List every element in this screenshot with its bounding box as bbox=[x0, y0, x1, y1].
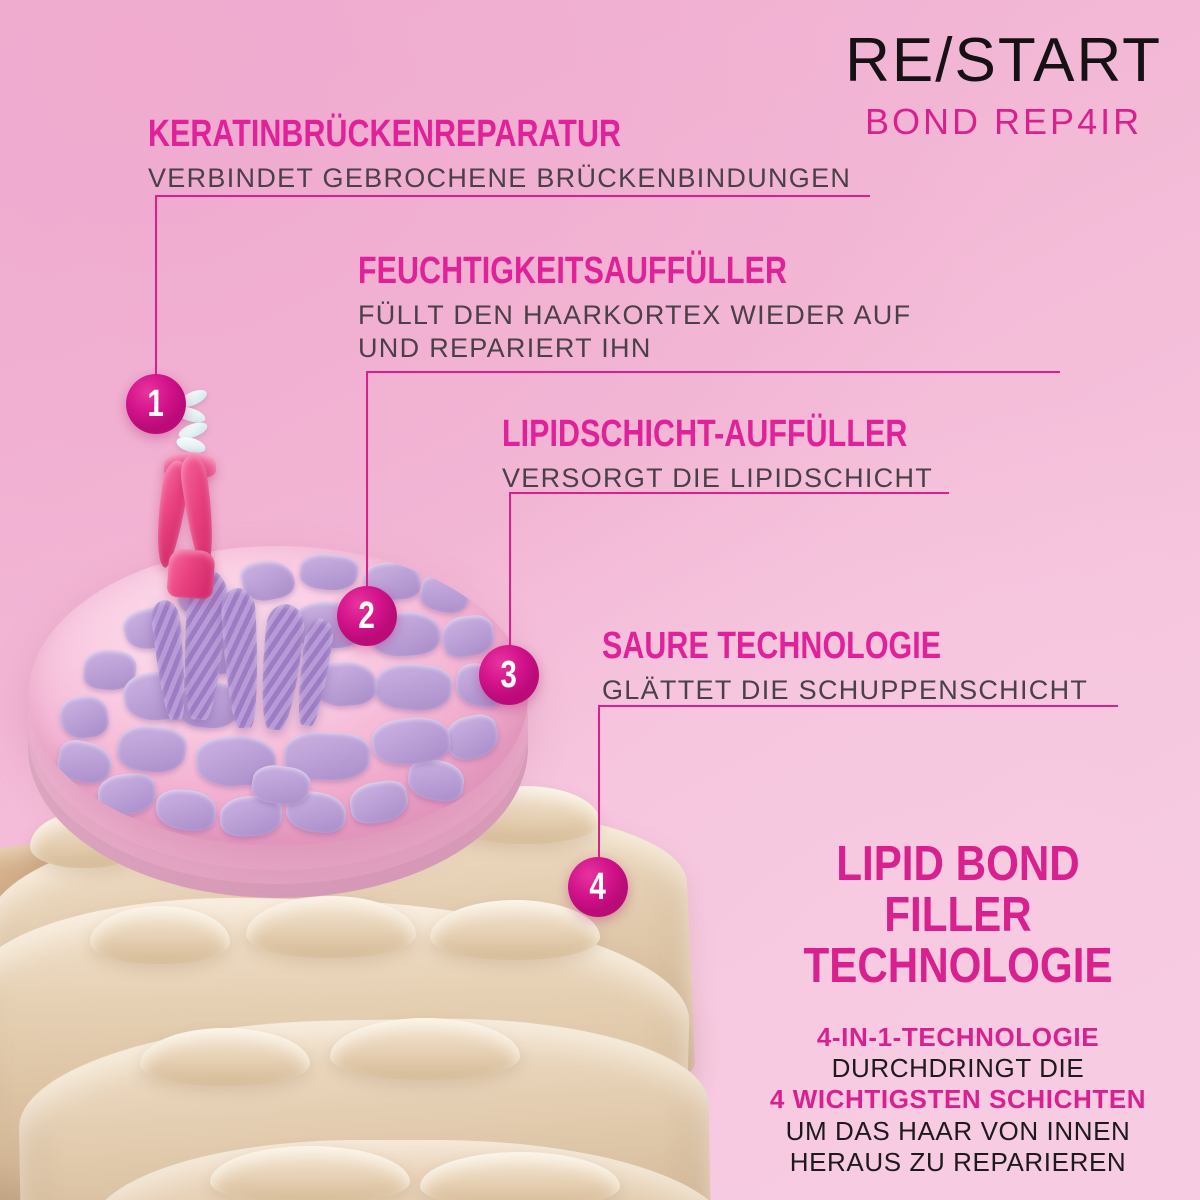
cortex-cell bbox=[155, 788, 218, 832]
brand-logo: RE/START BOND REP4IR bbox=[845, 30, 1162, 140]
callout-marker-1[interactable]: 1 bbox=[126, 374, 186, 434]
callout-1-rule bbox=[155, 195, 870, 197]
callout-3-rule bbox=[509, 492, 949, 494]
product-body-line-1: 4-IN-1-TECHNOLOGIE bbox=[758, 1022, 1158, 1053]
callout-2-desc-line-1: FÜLLT DEN HAARKORTEX WIEDER AUF bbox=[358, 299, 911, 332]
product-body-line-5: HERAUS ZU REPARIEREN bbox=[758, 1147, 1158, 1178]
cortex-cell bbox=[374, 660, 454, 714]
callout-marker-1-number: 1 bbox=[148, 385, 164, 423]
callout-2-title: FEUCHTIGKEITSAUFFÜLLER bbox=[358, 252, 801, 291]
logo-restart: RE/START bbox=[845, 30, 1162, 92]
helix-base bbox=[166, 548, 215, 599]
callout-marker-4[interactable]: 4 bbox=[568, 857, 628, 917]
infographic-canvas: RE/START BOND REP4IR KERATINBRÜCKENREPAR… bbox=[0, 0, 1200, 1200]
callout-3: LIPIDSCHICHT-AUFFÜLLER VERSORGT DIE LIPI… bbox=[502, 415, 1009, 495]
cortex-cells-group bbox=[28, 546, 528, 846]
callout-2-leader-line bbox=[366, 371, 368, 586]
callout-marker-3-number: 3 bbox=[501, 656, 517, 694]
callout-4: SAURE TECHNOLOGIE GLÄTTET DIE SCHUPPENSC… bbox=[602, 627, 1088, 707]
product-headline-line-2: TECHNOLOGIE bbox=[786, 941, 1130, 992]
product-headline-line-1: LIPID BOND FILLER bbox=[786, 839, 1130, 941]
product-body-text: 4-IN-1-TECHNOLOGIE DURCHDRINGT DIE 4 WIC… bbox=[758, 1022, 1158, 1178]
product-body-line-2: DURCHDRINGT DIE bbox=[758, 1053, 1158, 1084]
cortex-cell bbox=[347, 778, 411, 827]
cortex-disc-stack bbox=[28, 540, 548, 940]
cortex-cell bbox=[115, 721, 189, 776]
cortex-cell bbox=[442, 711, 501, 762]
callout-1: KERATINBRÜCKENREPARATUR VERBINDET GEBROC… bbox=[148, 115, 851, 195]
callout-3-leader-line bbox=[509, 492, 511, 650]
cortex-cell bbox=[298, 551, 360, 594]
callout-4-desc-line-1: GLÄTTET DIE SCHUPPENSCHICHT bbox=[602, 674, 1088, 707]
callout-2: FEUCHTIGKEITSAUFFÜLLER FÜLLT DEN HAARKOR… bbox=[358, 252, 911, 365]
cortex-cell bbox=[416, 570, 473, 617]
keratin-bond-helix bbox=[152, 438, 272, 598]
logo-bond-repair: BOND REP4IR bbox=[845, 104, 1162, 140]
callout-1-desc-line-1: VERBINDET GEBROCHENE BRÜCKENBINDUNGEN bbox=[148, 162, 851, 195]
callout-1-title: KERATINBRÜCKENREPARATUR bbox=[148, 115, 711, 154]
callout-4-rule bbox=[598, 705, 1118, 707]
callout-marker-2[interactable]: 2 bbox=[337, 586, 397, 646]
callout-3-title: LIPIDSCHICHT-AUFFÜLLER bbox=[502, 415, 907, 454]
callout-2-desc-line-2: UND REPARIERT IHN bbox=[358, 332, 911, 365]
product-body-line-4: UM DAS HAAR VON INNEN bbox=[758, 1116, 1158, 1147]
callout-marker-3[interactable]: 3 bbox=[479, 645, 539, 705]
callout-4-leader-line bbox=[598, 705, 600, 857]
product-body-line-3: 4 WICHTIGSTEN SCHICHTEN bbox=[758, 1084, 1158, 1115]
callout-3-desc-line-1: VERSORGT DIE LIPIDSCHICHT bbox=[502, 462, 1009, 495]
callout-2-rule bbox=[366, 371, 1060, 373]
callout-1-leader-line bbox=[155, 195, 157, 385]
callout-marker-2-number: 2 bbox=[359, 597, 375, 635]
callout-marker-4-number: 4 bbox=[590, 868, 606, 906]
cortex-cell bbox=[57, 693, 110, 741]
callout-4-title: SAURE TECHNOLOGIE bbox=[602, 627, 991, 666]
product-technology-block: LIPID BOND FILLER TECHNOLOGIE 4-IN-1-TEC… bbox=[758, 839, 1158, 1178]
